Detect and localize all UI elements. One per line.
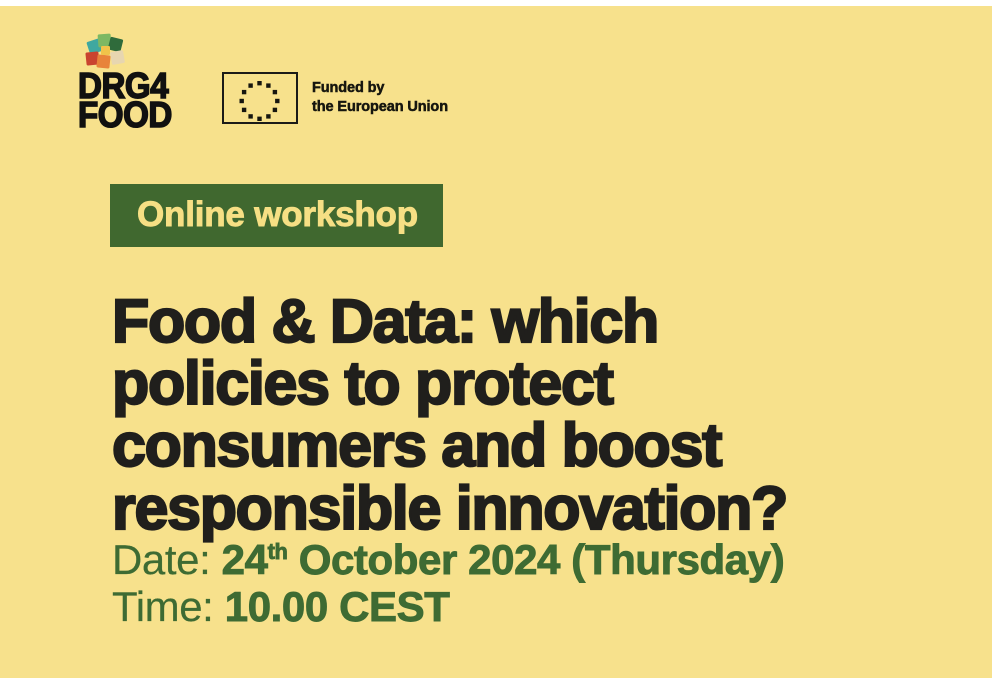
event-time-text: 10.00 CEST (225, 583, 450, 630)
page-title: Food & Data: which policies to protect c… (112, 290, 952, 539)
eu-caption-line-1: Funded by (312, 79, 448, 98)
event-date-label: Date: (112, 536, 210, 583)
status-badge: Online workshop (110, 184, 443, 247)
eu-flag-icon (222, 72, 298, 124)
headline-line-2: policies to protect (112, 352, 952, 414)
event-details: Date: 24th October 2024 (Thursday) Time:… (112, 536, 784, 630)
drg4food-wordmark: DRG4 FOOD (78, 72, 172, 130)
event-time: Time: 10.00 CEST (112, 583, 784, 630)
headline-line-1: Food & Data: which (112, 290, 952, 352)
header-logo-row: DRG4 FOOD (78, 38, 448, 130)
eu-caption-line-2: the European Union (312, 98, 448, 117)
event-time-value: 10.00 CEST (213, 583, 449, 630)
headline-line-4: responsible innovation? (112, 477, 952, 539)
event-date-value: 24th October 2024 (Thursday) (210, 536, 784, 583)
event-date: Date: 24th October 2024 (Thursday) (112, 536, 784, 583)
headline-line-3: consumers and boost (112, 414, 952, 476)
wordmark-line-2: FOOD (78, 101, 172, 130)
eu-funding-caption: Funded by the European Union (312, 79, 448, 116)
event-date-rest: October 2024 (Thursday) (299, 536, 785, 583)
event-date-day-suffix: th (268, 539, 288, 564)
poster-canvas: DRG4 FOOD (0, 6, 992, 678)
event-time-label: Time: (112, 583, 213, 630)
event-date-day: 24 (222, 536, 268, 583)
eu-funding-logo: Funded by the European Union (222, 72, 448, 124)
drg4food-logo: DRG4 FOOD (78, 38, 180, 130)
